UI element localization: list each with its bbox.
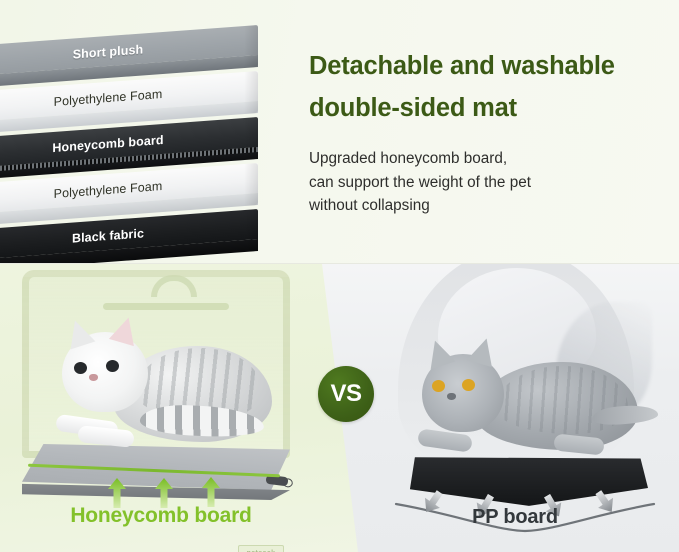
- caption-honeycomb-board: Honeycomb board: [0, 504, 322, 528]
- cat-eye-left: [74, 362, 87, 374]
- cat-nose: [447, 393, 456, 400]
- page-title: Detachable and washable double-sided mat: [309, 46, 671, 130]
- mat-layer-stack-diagram: Short plush Polyethylene Foam Honeycomb …: [0, 36, 288, 241]
- vs-label: VS: [330, 380, 361, 408]
- product-infographic: Short plush Polyethylene Foam Honeycomb …: [0, 0, 679, 552]
- grey-cat: [404, 336, 644, 466]
- up-arrow-icon-3: [202, 477, 220, 507]
- layer-black-fabric: Black fabric: [0, 220, 258, 262]
- headline-line-2: double-sided mat: [309, 88, 517, 128]
- carrier-handle-left: [151, 275, 197, 297]
- carrier-brand-logo: petseek: [238, 545, 284, 552]
- caption-pp-board: PP board: [380, 506, 650, 529]
- description-line-1: Upgraded honeycomb board,: [309, 147, 671, 171]
- description-line-3: without collapsing: [309, 194, 671, 218]
- top-feature-section: Short plush Polyethylene Foam Honeycomb …: [0, 0, 679, 264]
- description-line-2: can support the weight of the pet: [309, 171, 671, 195]
- cat-nose: [89, 374, 98, 381]
- cat-eye-right: [106, 360, 119, 372]
- layer-honeycomb-board: Honeycomb board: [0, 128, 258, 170]
- carrier-crossbar-left: [103, 303, 229, 310]
- cat-eye-left: [432, 380, 445, 392]
- headline-line-1: Detachable and washable: [309, 46, 615, 86]
- feature-copy-block: Detachable and washable double-sided mat…: [309, 46, 671, 218]
- feature-description: Upgraded honeycomb board, can support th…: [309, 147, 671, 218]
- cat-front-paw-right: [77, 425, 134, 448]
- silver-tabby-cat: [48, 318, 284, 458]
- layer-polyethylene-foam-lower: Polyethylene Foam: [0, 174, 258, 216]
- comparison-section: petseek: [0, 264, 679, 552]
- layer-short-plush: Short plush: [0, 36, 258, 78]
- vs-badge: VS: [318, 366, 374, 422]
- layer-polyethylene-foam-upper: Polyethylene Foam: [0, 82, 258, 124]
- cat-eye-right: [462, 379, 475, 391]
